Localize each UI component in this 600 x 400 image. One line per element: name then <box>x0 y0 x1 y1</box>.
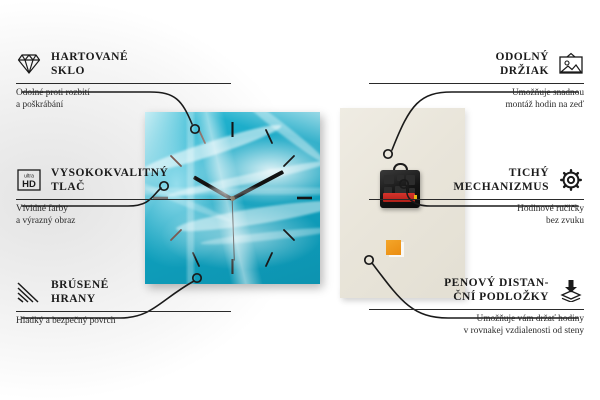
picture-frame-icon <box>558 52 584 76</box>
feature-mechanism-divider <box>369 199 584 200</box>
feature-edges-title-1: BRÚSENÉ <box>51 278 109 292</box>
infographic-canvas: HARTOVANÉ SKLO Odolné proti rozbití a po… <box>0 0 600 400</box>
foam-spacer-pad <box>386 240 401 255</box>
feature-print-divider <box>16 199 231 200</box>
feature-holder-title-1: ODOLNÝ <box>496 50 549 64</box>
feature-mechanism-sub-2: bez zvuku <box>369 216 584 228</box>
feature-foam-head: PENOVÝ DISTAN- ČNÍ PODLOŽKY <box>369 276 584 304</box>
feature-edges-sub-1: Hladký a bezpečný povrch <box>16 316 231 328</box>
feature-glass-sub-2: a poškrábání <box>16 100 231 112</box>
feature-mechanism-sub-1: Hodinové ručičky <box>369 204 584 216</box>
feature-glass-divider <box>16 83 231 84</box>
diamond-icon <box>16 52 42 76</box>
feature-foam-title-2: ČNÍ PODLOŽKY <box>444 290 549 304</box>
feature-mechanism-head: TICHÝ MECHANIZMUS <box>369 166 584 194</box>
feature-print-title-2: TLAČ <box>51 180 168 194</box>
feature-mechanism-title-1: TICHÝ <box>453 166 549 180</box>
gear-icon <box>558 168 584 192</box>
feature-holder: ODOLNÝ DRŽIAK Umožňuje snadnou montáž ho… <box>369 50 584 111</box>
feature-holder-head: ODOLNÝ DRŽIAK <box>369 50 584 78</box>
feature-holder-title-2: DRŽIAK <box>496 64 549 78</box>
feature-glass-sub-1: Odolné proti rozbití <box>16 88 231 100</box>
ultra-hd-icon: ultra HD <box>16 168 42 192</box>
feature-edges-head: BRÚSENÉ HRANY <box>16 278 231 306</box>
feature-holder-sub-1: Umožňuje snadnou <box>369 88 584 100</box>
feature-glass-head: HARTOVANÉ SKLO <box>16 50 231 78</box>
feature-glass: HARTOVANÉ SKLO Odolné proti rozbití a po… <box>16 50 231 111</box>
feature-edges: BRÚSENÉ HRANY Hladký a bezpečný povrch <box>16 278 231 328</box>
feature-holder-divider <box>369 83 584 84</box>
feature-glass-title-1: HARTOVANÉ <box>51 50 128 64</box>
feature-print-sub-2: a výrazný obraz <box>16 216 231 228</box>
feature-foam-sub-1: Umožňuje vám držať hodiny <box>369 314 584 326</box>
brushed-edges-icon <box>16 280 42 304</box>
feature-print-title-1: VYSOKOKVALITNÝ <box>51 166 168 180</box>
svg-text:HD: HD <box>22 179 36 190</box>
feature-mechanism-title-2: MECHANIZMUS <box>453 180 549 194</box>
feature-glass-title-2: SKLO <box>51 64 128 78</box>
feature-print-sub-1: Vívidné farby <box>16 204 231 216</box>
feature-foam-title-1: PENOVÝ DISTAN- <box>444 276 549 290</box>
feature-foam: PENOVÝ DISTAN- ČNÍ PODLOŽKY Umožňuje vám… <box>369 276 584 337</box>
feature-mechanism: TICHÝ MECHANIZMUS <box>369 166 584 227</box>
feature-edges-title-2: HRANY <box>51 292 109 306</box>
feature-print: ultra HD VYSOKOKVALITNÝ TLAČ Vívidné far… <box>16 166 231 227</box>
feature-print-head: ultra HD VYSOKOKVALITNÝ TLAČ <box>16 166 231 194</box>
feature-foam-sub-2: v rovnakej vzdialenosti od steny <box>369 326 584 338</box>
arrow-layers-icon <box>558 278 584 302</box>
feature-holder-sub-2: montáž hodin na zeď <box>369 100 584 112</box>
feature-foam-divider <box>369 309 584 310</box>
feature-edges-divider <box>16 311 231 312</box>
